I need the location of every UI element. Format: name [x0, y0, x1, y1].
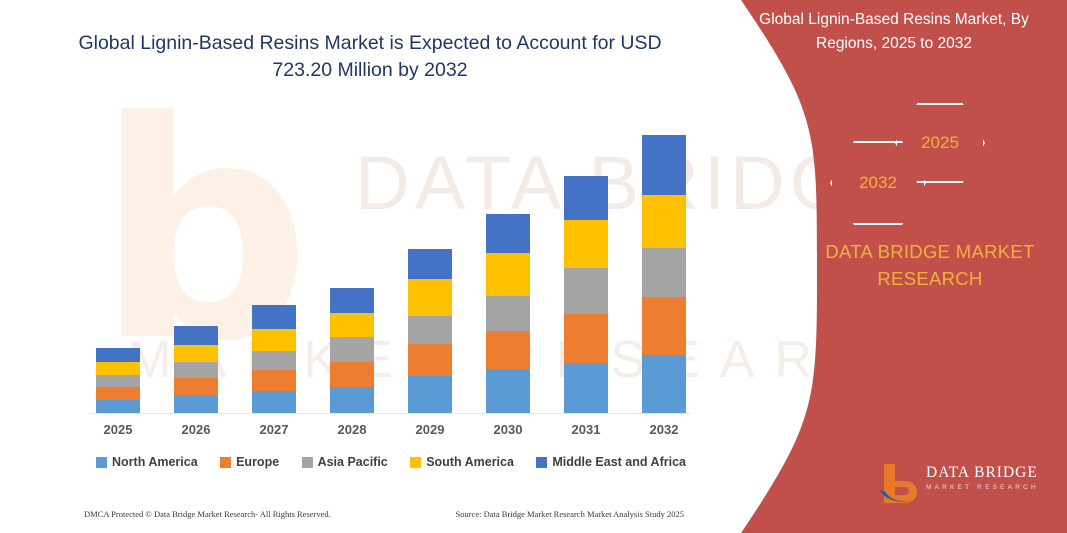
bar-segment — [642, 135, 686, 195]
bar-segment — [564, 268, 608, 314]
infographic-canvas: b DATA BRIDGE MARKET RESEARCH Global Lig… — [0, 0, 1067, 533]
bar-segment — [96, 400, 140, 413]
bar-2027[interactable] — [252, 305, 296, 413]
x-axis-line — [90, 413, 690, 414]
bar-segment — [486, 253, 530, 296]
bar-segment — [96, 362, 140, 375]
bar-segment — [252, 370, 296, 391]
hexagon-2032-label: 2032 — [859, 173, 897, 193]
bar-segment — [330, 362, 374, 387]
x-axis-label-2032: 2032 — [642, 422, 686, 437]
legend-item-south-america[interactable]: South America — [410, 455, 514, 469]
legend-label: North America — [112, 455, 198, 469]
bar-segment — [96, 387, 140, 400]
bar-segment — [486, 331, 530, 369]
legend-swatch-icon — [220, 457, 231, 468]
bar-segment — [642, 195, 686, 248]
panel-brand-line2: RESEARCH — [820, 265, 1040, 292]
chart-title: Global Lignin-Based Resins Market is Exp… — [60, 30, 680, 84]
bar-segment — [642, 297, 686, 355]
bar-2025[interactable] — [96, 348, 140, 413]
bar-segment — [642, 248, 686, 297]
bar-segment — [174, 362, 218, 378]
bar-segment — [564, 220, 608, 268]
bar-segment — [174, 378, 218, 395]
x-axis-label-2026: 2026 — [174, 422, 218, 437]
bar-segment — [252, 351, 296, 370]
legend-item-north-america[interactable]: North America — [96, 455, 198, 469]
bar-2028[interactable] — [330, 288, 374, 413]
chart-legend: North AmericaEuropeAsia PacificSouth Ame… — [96, 455, 686, 469]
x-axis-labels: 20252026202720282029203020312032 — [96, 422, 686, 437]
x-axis-label-2025: 2025 — [96, 422, 140, 437]
bar-segment — [96, 375, 140, 387]
chart-plot-area — [96, 110, 686, 413]
bar-segment — [564, 363, 608, 413]
bar-group — [96, 110, 686, 413]
legend-label: Middle East and Africa — [552, 455, 686, 469]
bar-2032[interactable] — [642, 135, 686, 413]
bar-segment — [408, 316, 452, 344]
x-axis-label-2031: 2031 — [564, 422, 608, 437]
bar-segment — [330, 387, 374, 413]
bar-segment — [174, 326, 218, 345]
bar-segment — [486, 214, 530, 253]
data-bridge-logo-text: DATA BRIDGE MARKET RESEARCH — [926, 464, 1039, 491]
bar-2031[interactable] — [564, 176, 608, 413]
hexagon-2025-label: 2025 — [921, 133, 959, 153]
bar-segment — [408, 279, 452, 316]
bar-2026[interactable] — [174, 326, 218, 413]
legend-item-middle-east-and-africa[interactable]: Middle East and Africa — [536, 455, 686, 469]
legend-swatch-icon — [96, 457, 107, 468]
x-axis-label-2028: 2028 — [330, 422, 374, 437]
bar-segment — [642, 355, 686, 413]
footer-dmca-text: DMCA Protected © Data Bridge Market Rese… — [84, 509, 331, 519]
legend-label: Asia Pacific — [318, 455, 388, 469]
bar-segment — [96, 348, 140, 362]
panel-brand-name: DATA BRIDGE MARKET RESEARCH — [820, 238, 1040, 292]
bar-segment — [174, 395, 218, 413]
bar-2029[interactable] — [408, 249, 452, 413]
legend-swatch-icon — [302, 457, 313, 468]
bar-segment — [252, 329, 296, 351]
legend-item-europe[interactable]: Europe — [220, 455, 279, 469]
bar-segment — [330, 288, 374, 313]
panel-brand-line1: DATA BRIDGE MARKET — [820, 238, 1040, 265]
bar-segment — [486, 369, 530, 413]
bar-segment — [252, 391, 296, 413]
data-bridge-logo-icon — [878, 460, 924, 506]
bar-2030[interactable] — [486, 214, 530, 413]
bar-segment — [564, 176, 608, 220]
bar-segment — [486, 296, 530, 331]
legend-swatch-icon — [410, 457, 421, 468]
x-axis-label-2027: 2027 — [252, 422, 296, 437]
x-axis-label-2029: 2029 — [408, 422, 452, 437]
bar-segment — [408, 249, 452, 279]
legend-item-asia-pacific[interactable]: Asia Pacific — [302, 455, 388, 469]
legend-label: Europe — [236, 455, 279, 469]
bar-segment — [174, 345, 218, 362]
x-axis-label-2030: 2030 — [486, 422, 530, 437]
footer-source-text: Source: Data Bridge Market Research Mark… — [455, 509, 684, 519]
logo-subtitle: MARKET RESEARCH — [926, 484, 1039, 491]
logo-name: DATA BRIDGE — [926, 464, 1039, 482]
bar-segment — [330, 337, 374, 362]
legend-label: South America — [426, 455, 514, 469]
bar-segment — [564, 314, 608, 363]
bar-segment — [408, 376, 452, 413]
footer: DMCA Protected © Data Bridge Market Rese… — [84, 509, 684, 519]
bar-segment — [408, 344, 452, 376]
data-bridge-logo: DATA BRIDGE MARKET RESEARCH — [878, 460, 1043, 508]
panel-title: Global Lignin-Based Resins Market, By Re… — [739, 8, 1049, 56]
bar-segment — [252, 305, 296, 329]
legend-swatch-icon — [536, 457, 547, 468]
bar-segment — [330, 313, 374, 337]
